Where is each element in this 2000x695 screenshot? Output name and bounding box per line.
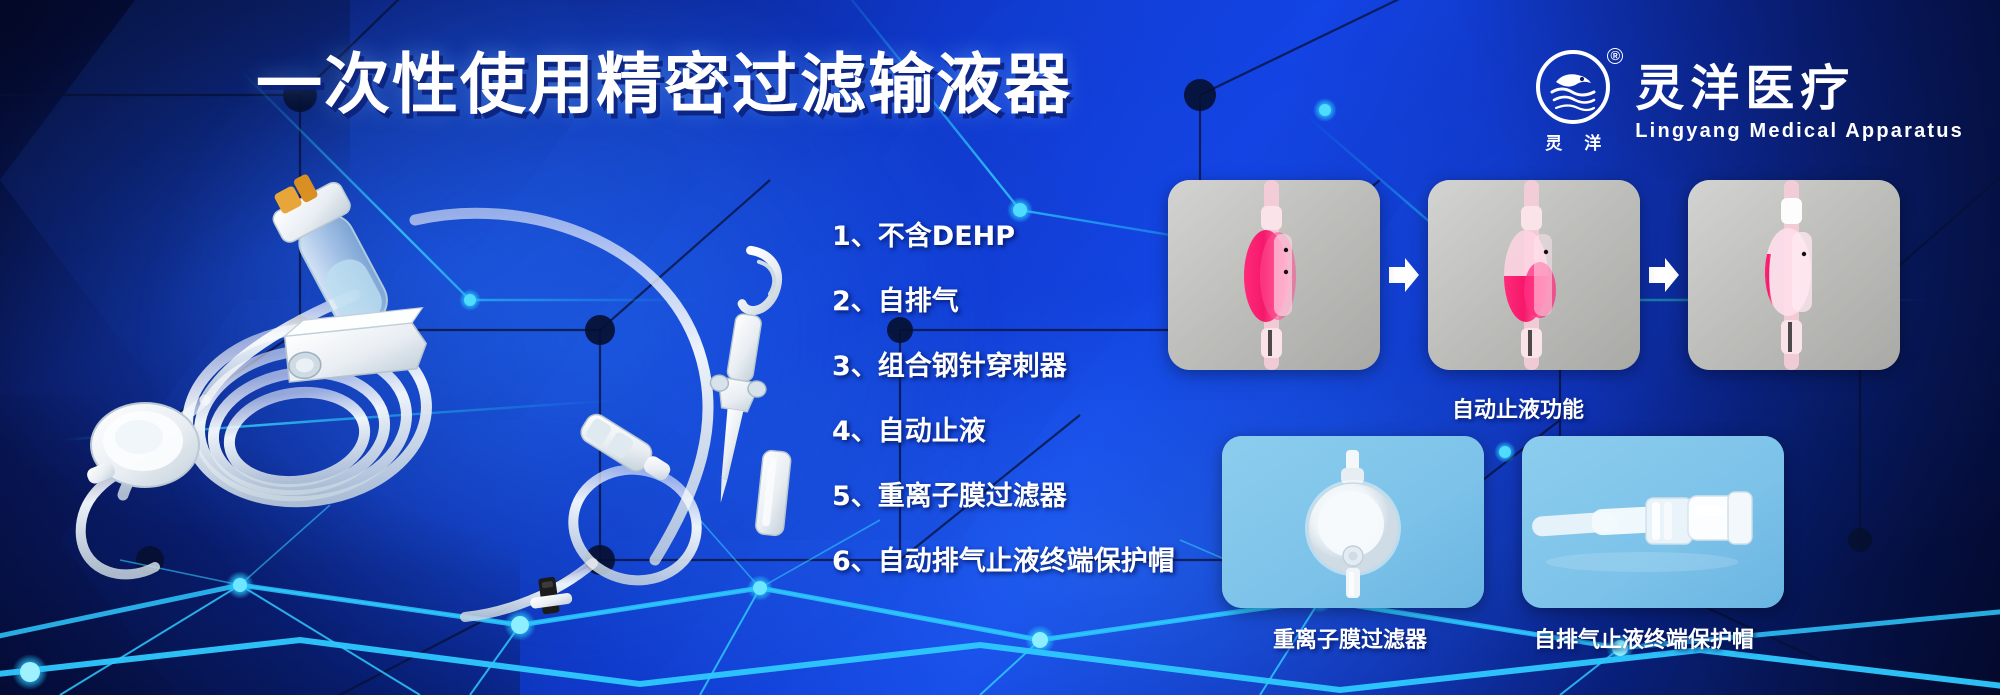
hero-product-image bbox=[55, 165, 815, 635]
brand-logo: ® 灵 洋 灵洋医疗 Lingyang Medical Apparatus bbox=[1527, 50, 1964, 154]
logo-circle-icon bbox=[1536, 50, 1610, 124]
demo-arrow-2 bbox=[1640, 256, 1688, 294]
product-card-filter bbox=[1222, 436, 1484, 608]
protective-cap-illustration bbox=[1522, 436, 1784, 608]
demo-caption: 自动止液功能 bbox=[1452, 392, 1584, 424]
logo-text-block: 灵洋医疗 Lingyang Medical Apparatus bbox=[1635, 62, 1964, 143]
logo-emblem-char-1: 灵 bbox=[1545, 129, 1562, 154]
page-title-wrapper: 一次性使用精密过滤输液器 bbox=[256, 48, 1072, 122]
demo-photo-step-3 bbox=[1688, 180, 1900, 370]
feature-item-4: 4、自动止液 bbox=[832, 417, 1175, 447]
chamber-full-illustration bbox=[1168, 180, 1380, 370]
demo-photo-step-1 bbox=[1168, 180, 1380, 370]
right-arrow-icon bbox=[1387, 256, 1421, 294]
chamber-half-illustration bbox=[1428, 180, 1640, 370]
auto-stop-demo-row bbox=[1168, 180, 1900, 370]
demo-arrow-1 bbox=[1380, 256, 1428, 294]
product-card-row bbox=[1222, 436, 1784, 608]
chamber-empty-illustration bbox=[1688, 180, 1900, 370]
feature-item-3: 3、组合钢针穿刺器 bbox=[832, 352, 1175, 382]
logo-emblem-chars: 灵 洋 bbox=[1545, 129, 1601, 154]
feature-item-2: 2、自排气 bbox=[832, 287, 1175, 317]
membrane-filter-illustration bbox=[1222, 436, 1484, 608]
banner-root: 一次性使用精密过滤输液器 ® 灵 洋 灵洋医疗 Lingyang Medical bbox=[0, 0, 2000, 695]
product-caption-filter: 重离子膜过滤器 bbox=[1273, 622, 1427, 654]
feature-item-6: 6、自动排气止液终端保护帽 bbox=[832, 547, 1175, 577]
brand-name-en: Lingyang Medical Apparatus bbox=[1635, 120, 1964, 143]
product-card-cap bbox=[1522, 436, 1784, 608]
logo-emblem-char-2: 洋 bbox=[1584, 129, 1601, 154]
registered-mark-icon: ® bbox=[1607, 48, 1623, 64]
feature-list: 1、不含DEHP 2、自排气 3、组合钢针穿刺器 4、自动止液 5、重离子膜过滤… bbox=[832, 222, 1175, 577]
feature-item-1: 1、不含DEHP bbox=[832, 222, 1175, 252]
logo-emblem: ® 灵 洋 bbox=[1527, 50, 1619, 154]
wave-bird-icon bbox=[1542, 56, 1604, 118]
product-caption-cap: 自排气止液终端保护帽 bbox=[1534, 622, 1754, 654]
right-arrow-icon bbox=[1647, 256, 1681, 294]
page-title: 一次性使用精密过滤输液器 bbox=[256, 48, 1072, 122]
demo-photo-step-2 bbox=[1428, 180, 1640, 370]
infusion-set-illustration bbox=[55, 165, 815, 635]
feature-item-5: 5、重离子膜过滤器 bbox=[832, 482, 1175, 512]
brand-name-cn: 灵洋医疗 bbox=[1635, 62, 1964, 116]
